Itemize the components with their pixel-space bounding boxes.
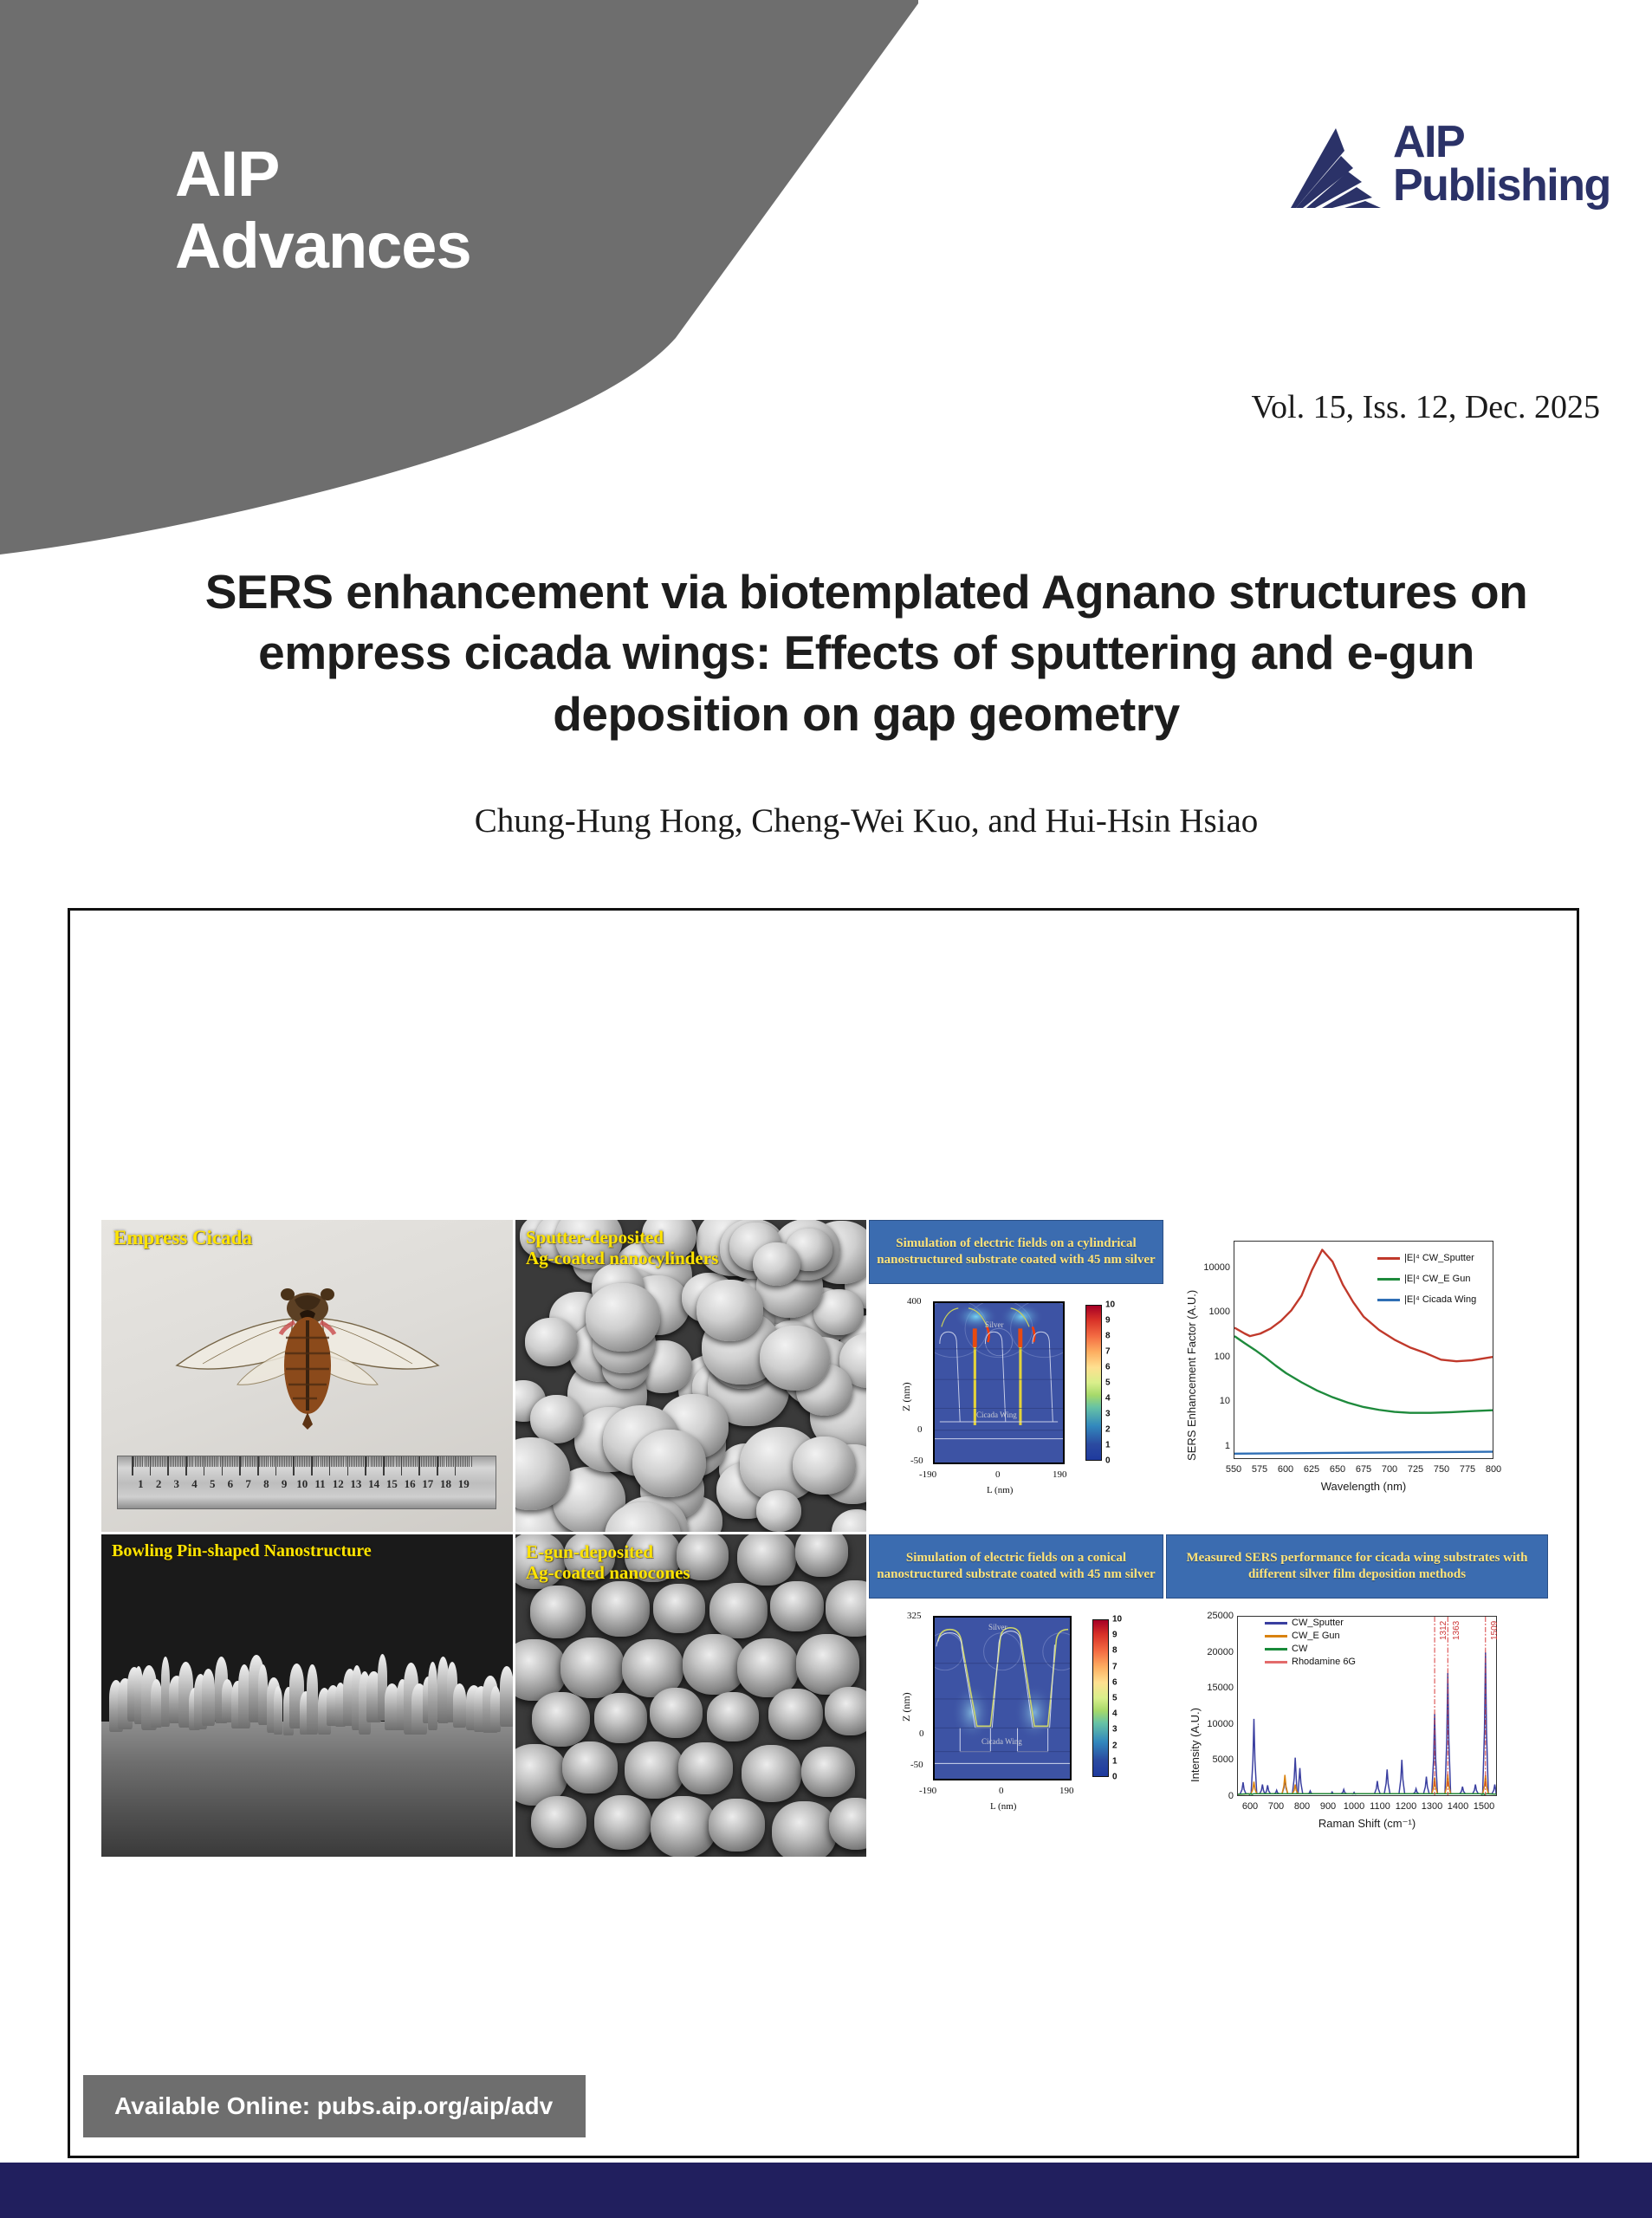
cicada-specimen-image xyxy=(165,1268,450,1433)
sers-ef-xtick: 625 xyxy=(1304,1464,1319,1475)
ruler-number: 1 xyxy=(138,1477,144,1491)
panel-egun-sem: E-gun-deposited Ag-coated nanocones xyxy=(515,1534,866,1857)
ruler-number: 15 xyxy=(386,1477,398,1491)
ruler-number: 10 xyxy=(296,1477,308,1491)
ruler-number: 5 xyxy=(210,1477,216,1491)
raman-xtick: 1000 xyxy=(1344,1801,1364,1812)
caption-measured-sers: Measured SERS performance for cicada win… xyxy=(1166,1534,1548,1599)
sem-bowling-pin-texture xyxy=(101,1534,513,1857)
sim1-xtick-min: -190 xyxy=(919,1469,936,1480)
sim2-xtick-max: 190 xyxy=(1059,1786,1074,1796)
journal-title-line1: AIP xyxy=(175,138,279,210)
colorbar-tick: 4 xyxy=(1112,1709,1118,1719)
sim2-ytick-neg50: -50 xyxy=(910,1760,923,1770)
bottom-color-band xyxy=(0,2163,1652,2218)
colorbar-tick: 7 xyxy=(1105,1347,1111,1357)
raman-peak-label: 1363 xyxy=(1452,1621,1461,1640)
raman-xtick: 1500 xyxy=(1474,1801,1494,1812)
nanocylinder-grain xyxy=(530,1395,583,1444)
caption-conical-simulation: Simulation of electric fields on a conic… xyxy=(869,1534,1163,1599)
ruler-number: 3 xyxy=(174,1477,180,1491)
raman-legend-item: CW xyxy=(1265,1644,1307,1654)
colorbar-tick: 8 xyxy=(1112,1646,1118,1656)
panel-sputter-sem: Sputter-deposited Ag-coated nanocylinder… xyxy=(515,1220,866,1532)
ruler-number: 4 xyxy=(191,1477,198,1491)
cover-figure-grid: 12345678910111213141516171819 Empress Ci… xyxy=(101,1220,1548,1857)
legend-color-swatch xyxy=(1265,1661,1287,1663)
sim1-ylabel: Z (nm) xyxy=(900,1382,913,1411)
ruler-number: 8 xyxy=(263,1477,269,1491)
legend-label: |E|⁴ CW_E Gun xyxy=(1404,1274,1470,1284)
nanocone-grain xyxy=(651,1796,716,1858)
ruler-number: 14 xyxy=(368,1477,379,1491)
colorbar-tick: 1 xyxy=(1105,1441,1111,1450)
colorbar-tick: 6 xyxy=(1112,1677,1118,1687)
nanocone-grain xyxy=(653,1584,705,1633)
nanocone-grain xyxy=(594,1795,651,1850)
sers-ef-legend-item: |E|⁴ Cicada Wing xyxy=(1377,1294,1476,1305)
ruler-number: 2 xyxy=(156,1477,162,1491)
aip-publishing-logo: AIP Publishing xyxy=(1291,121,1603,225)
ruler-number: 12 xyxy=(333,1477,344,1491)
raman-xtick: 1200 xyxy=(1396,1801,1416,1812)
colorbar-tick: 10 xyxy=(1105,1300,1115,1310)
available-online-text: Available Online: pubs.aip.org/aip/adv xyxy=(114,2092,553,2120)
nanocone-grain xyxy=(625,1741,684,1799)
nanocylinder-grain xyxy=(696,1280,763,1341)
ruler-scale: 12345678910111213141516171819 xyxy=(117,1456,496,1509)
panel-label-egun-deposited: E-gun-deposited Ag-coated nanocones xyxy=(526,1541,690,1584)
sim-annotation-cicada-wing: Cicada Wing xyxy=(976,1411,1017,1419)
sers-ef-series-line xyxy=(1234,1452,1493,1454)
colorbar-tick: 6 xyxy=(1105,1363,1111,1372)
legend-color-swatch xyxy=(1377,1299,1400,1301)
legend-color-swatch xyxy=(1265,1635,1287,1638)
sim1-xtick-max: 190 xyxy=(1053,1469,1067,1480)
page-title: SERS enhancement via biotemplated Agnano… xyxy=(147,561,1585,744)
bowling-pin-nanostructure xyxy=(453,1683,466,1728)
ruler-number: 11 xyxy=(314,1477,325,1491)
sim2-ylabel: Z (nm) xyxy=(900,1692,913,1722)
colorbar-tick: 2 xyxy=(1112,1741,1118,1750)
colorbar-tick: 5 xyxy=(1112,1694,1118,1703)
chart-sers-enhancement-factor: 550575600625650675700725750775800 110100… xyxy=(1166,1220,1548,1532)
nanocone-grain xyxy=(801,1747,855,1797)
colorbar-tick: 9 xyxy=(1105,1316,1111,1326)
colorbar-tick: 1 xyxy=(1112,1756,1118,1766)
raman-xtick: 1100 xyxy=(1370,1801,1390,1812)
sers-ef-xtick: 650 xyxy=(1330,1464,1345,1475)
sers-ef-ylabel: SERS Enhancement Factor (A.U.) xyxy=(1185,1290,1198,1461)
chart-sim-cylindrical: Silver Cicada Wing 400 0 -50 Z (nm) -190… xyxy=(869,1286,1163,1532)
nanocylinder-grain xyxy=(586,1283,659,1351)
bowling-pin-nanostructure xyxy=(202,1669,215,1726)
sim1-colorbar xyxy=(1085,1305,1102,1461)
sim2-xtick-min: -190 xyxy=(919,1786,936,1796)
colorbar-tick: 0 xyxy=(1105,1456,1111,1466)
raman-xtick: 1400 xyxy=(1448,1801,1468,1812)
bowling-pin-nanostructure xyxy=(307,1664,318,1735)
raman-xtick: 900 xyxy=(1320,1801,1336,1812)
legend-color-swatch xyxy=(1265,1622,1287,1625)
legend-color-swatch xyxy=(1265,1648,1287,1651)
nanocone-grain xyxy=(594,1693,647,1743)
sim-conical-plotarea: Silver Cicada Wing xyxy=(933,1616,1072,1780)
sim2-ytick-325: 325 xyxy=(907,1611,922,1621)
aip-fan-icon xyxy=(1291,126,1384,210)
cover-figure-frame: 12345678910111213141516171819 Empress Ci… xyxy=(68,908,1579,2158)
raman-legend-item: CW_E Gun xyxy=(1265,1631,1340,1641)
nanocone-grain xyxy=(562,1741,618,1794)
colorbar-tick: 3 xyxy=(1105,1410,1111,1419)
nanocone-grain xyxy=(678,1742,733,1794)
logo-line-publishing: Publishing xyxy=(1393,165,1610,208)
colorbar-tick: 10 xyxy=(1112,1615,1122,1625)
legend-label: Rhodamine 6G xyxy=(1292,1657,1356,1667)
nanocone-grain xyxy=(737,1534,796,1586)
sim1-ytick-0: 0 xyxy=(917,1424,923,1435)
legend-label: |E|⁴ Cicada Wing xyxy=(1404,1294,1476,1305)
nanocone-grain xyxy=(530,1586,586,1638)
raman-xtick: 1300 xyxy=(1422,1801,1442,1812)
colorbar-tick: 4 xyxy=(1105,1394,1111,1404)
chart-raman-sers-spectra: 600700800900100011001200130014001500 050… xyxy=(1166,1600,1548,1857)
sers-ef-xtick: 700 xyxy=(1382,1464,1397,1475)
sers-ef-xtick: 575 xyxy=(1252,1464,1267,1475)
sim2-ytick-0: 0 xyxy=(919,1728,924,1739)
bowling-pin-nanostructure xyxy=(428,1662,437,1730)
raman-xtick: 700 xyxy=(1268,1801,1284,1812)
ruler-number: 17 xyxy=(422,1477,433,1491)
legend-label: |E|⁴ CW_Sputter xyxy=(1404,1253,1474,1263)
journal-title-line2: Advances xyxy=(175,211,471,282)
panel-label-bowling-pin: Bowling Pin-shaped Nanostructure xyxy=(112,1541,372,1561)
sim1-ytick-400: 400 xyxy=(907,1296,922,1307)
raman-legend-item: CW_Sputter xyxy=(1265,1618,1344,1628)
raman-ytick: 15000 xyxy=(1192,1683,1234,1693)
sim2-annotation-cicada-wing: Cicada Wing xyxy=(981,1737,1022,1746)
panel-bowling-pin-sem: Bowling Pin-shaped Nanostructure xyxy=(101,1534,513,1857)
sers-ef-xtick: 750 xyxy=(1434,1464,1449,1475)
nanocone-grain xyxy=(825,1687,866,1735)
raman-series-line xyxy=(1238,1793,1496,1794)
colorbar-tick: 9 xyxy=(1112,1631,1118,1640)
sim2-xlabel: L (nm) xyxy=(990,1801,1016,1812)
ruler-number: 18 xyxy=(440,1477,451,1491)
raman-ytick: 20000 xyxy=(1192,1647,1234,1657)
nanocylinder-grain xyxy=(753,1242,800,1287)
ruler-ticks: 12345678910111213141516171819 xyxy=(118,1456,496,1508)
nanocone-grain xyxy=(531,1796,586,1849)
colorbar-tick: 3 xyxy=(1112,1725,1118,1735)
ruler-number: 13 xyxy=(350,1477,361,1491)
colorbar-tick: 2 xyxy=(1105,1425,1111,1435)
header-banner-shape xyxy=(0,0,1652,572)
ruler-number: 19 xyxy=(458,1477,470,1491)
sers-ef-xtick: 800 xyxy=(1486,1464,1501,1475)
available-online-bar: Available Online: pubs.aip.org/aip/adv xyxy=(83,2075,586,2137)
sers-ef-xtick: 725 xyxy=(1408,1464,1423,1475)
nanocone-grain xyxy=(770,1581,823,1631)
sers-ef-xtick: 600 xyxy=(1278,1464,1293,1475)
nanocone-grain xyxy=(829,1798,866,1849)
colorbar-tick: 0 xyxy=(1112,1773,1118,1782)
raman-peak-label: 1509 xyxy=(1490,1621,1500,1640)
sim1-ytick-neg50: -50 xyxy=(910,1456,923,1466)
volume-issue-date: Vol. 15, Iss. 12, Dec. 2025 xyxy=(1251,388,1600,426)
ruler-number: 6 xyxy=(228,1477,234,1491)
raman-xtick: 800 xyxy=(1294,1801,1310,1812)
chart-sim-conical: Silver Cicada Wing 325 0 -50 Z (nm) -190… xyxy=(869,1600,1163,1857)
aip-publishing-wordmark: AIP Publishing xyxy=(1393,121,1610,208)
ruler-number: 9 xyxy=(282,1477,288,1491)
sim2-xtick-mid: 0 xyxy=(999,1786,1004,1796)
nanocone-grain xyxy=(768,1689,822,1740)
colorbar-tick: 8 xyxy=(1105,1332,1111,1341)
sers-ef-xtick: 775 xyxy=(1460,1464,1475,1475)
sers-ef-series-line xyxy=(1234,1250,1493,1362)
nanocylinder-grain xyxy=(632,1430,706,1497)
bowling-pin-nanostructure xyxy=(274,1686,283,1735)
bowling-pin-nanostructure xyxy=(500,1666,513,1727)
sim2-annotation-silver: Silver xyxy=(988,1623,1007,1631)
raman-ytick: 0 xyxy=(1192,1791,1234,1801)
sim2-colorbar xyxy=(1092,1619,1109,1777)
author-list: Chung-Hung Hong, Cheng-Wei Kuo, and Hui-… xyxy=(147,801,1585,840)
legend-label: CW_E Gun xyxy=(1292,1631,1340,1641)
nanocylinder-grain xyxy=(525,1318,577,1366)
nanocone-grain xyxy=(796,1634,859,1694)
logo-line-aip: AIP xyxy=(1393,121,1610,165)
nanocone-grain xyxy=(592,1581,650,1637)
nanocylinder-grain xyxy=(760,1326,831,1391)
sers-ef-legend-item: |E|⁴ CW_E Gun xyxy=(1377,1274,1470,1284)
caption-cylindrical-simulation: Simulation of electric fields on a cylin… xyxy=(869,1220,1163,1284)
sim1-xlabel: L (nm) xyxy=(987,1485,1013,1495)
raman-xlabel: Raman Shift (cm⁻¹) xyxy=(1237,1817,1497,1831)
nanocylinder-grain xyxy=(793,1437,856,1495)
raman-peak-label: 1312 xyxy=(1439,1621,1448,1640)
journal-cover-page: AIP Advances AIP Publishing Vol. 15, Iss… xyxy=(0,0,1652,2218)
sim1-xtick-mid: 0 xyxy=(995,1469,1001,1480)
ruler-number: 7 xyxy=(245,1477,251,1491)
ruler-number: 16 xyxy=(405,1477,416,1491)
nanocylinder-grain xyxy=(832,1509,866,1532)
raman-ytick: 25000 xyxy=(1192,1611,1234,1621)
nanocone-grain xyxy=(707,1692,759,1741)
sers-ef-xlabel: Wavelength (nm) xyxy=(1234,1480,1493,1493)
nanocone-grain xyxy=(795,1534,848,1577)
raman-ylabel: Intensity (A.U.) xyxy=(1189,1708,1202,1782)
sers-ef-ytick: 10000 xyxy=(1192,1262,1230,1273)
sers-ef-xtick: 675 xyxy=(1356,1464,1371,1475)
raman-legend-item: Rhodamine 6G xyxy=(1265,1657,1356,1667)
legend-label: CW xyxy=(1292,1644,1307,1654)
legend-color-swatch xyxy=(1377,1257,1400,1260)
nanocone-grain xyxy=(709,1583,768,1638)
raman-series-line xyxy=(1238,1652,1496,1794)
nanocone-grain xyxy=(650,1688,703,1739)
sers-ef-series-line xyxy=(1234,1336,1493,1413)
sim-annotation-silver: Silver xyxy=(985,1320,1004,1329)
sim-cylindrical-plotarea: Silver Cicada Wing xyxy=(933,1301,1065,1464)
legend-label: CW_Sputter xyxy=(1292,1618,1344,1628)
nanocylinder-grain xyxy=(756,1490,801,1532)
colorbar-tick: 7 xyxy=(1112,1662,1118,1671)
nanocone-grain xyxy=(772,1801,838,1857)
raman-xtick: 600 xyxy=(1242,1801,1258,1812)
sers-ef-xtick: 550 xyxy=(1226,1464,1241,1475)
sers-ef-legend-item: |E|⁴ CW_Sputter xyxy=(1377,1253,1474,1263)
nanocone-grain xyxy=(683,1634,746,1695)
legend-color-swatch xyxy=(1377,1278,1400,1281)
bowling-pin-nanostructure xyxy=(151,1679,162,1728)
panel-label-sputter-deposited: Sputter-deposited Ag-coated nanocylinder… xyxy=(526,1227,718,1269)
panel-cicada-photo: 12345678910111213141516171819 Empress Ci… xyxy=(101,1220,513,1532)
nanocone-grain xyxy=(742,1745,802,1802)
colorbar-tick: 5 xyxy=(1105,1378,1111,1388)
nanocone-grain xyxy=(560,1638,625,1698)
nanocone-grain xyxy=(826,1580,866,1636)
panel-label-empress-cicada: Empress Cicada xyxy=(113,1227,252,1250)
nanocone-grain xyxy=(709,1799,764,1852)
nanocone-grain xyxy=(532,1692,590,1747)
journal-title: AIP Advances xyxy=(175,139,471,282)
